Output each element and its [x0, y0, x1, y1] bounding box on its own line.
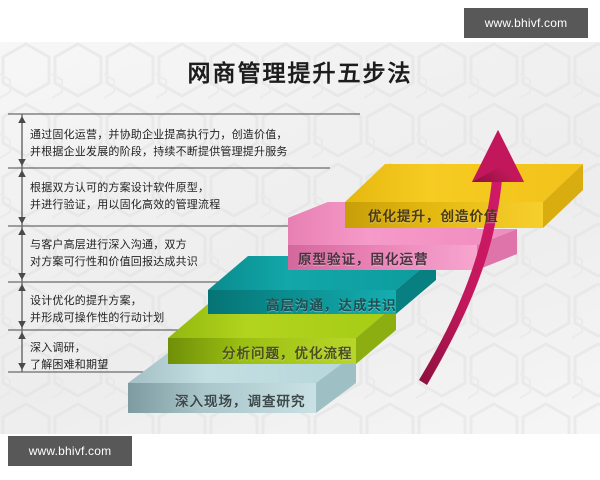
step-label-3[interactable]: 高层沟通，达成共识: [266, 294, 397, 314]
watermark-bottom: www.bhivf.com: [8, 436, 132, 466]
step-label-2[interactable]: 分析问题，优化流程: [222, 342, 353, 362]
staircase-diagram: [0, 42, 600, 434]
slide-canvas: 网商管理提升五步法 通过固化运营，并协助企业提高执行: [0, 42, 600, 434]
step-label-5[interactable]: 优化提升，创造价值: [368, 205, 499, 225]
watermark-top: www.bhivf.com: [464, 8, 588, 38]
step-label-1[interactable]: 深入现场，调查研究: [175, 390, 306, 410]
step-label-4[interactable]: 原型验证，固化运营: [298, 248, 429, 268]
